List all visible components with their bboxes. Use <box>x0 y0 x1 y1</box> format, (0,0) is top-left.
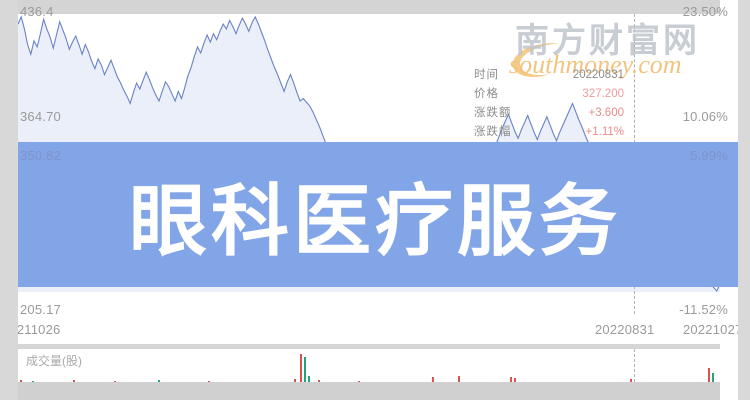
tooltip-value: +1.11% <box>586 123 624 142</box>
volume-bar <box>708 368 710 382</box>
tooltip-key: 涨跌幅 <box>474 123 512 142</box>
price-axis-label-band: 350.82 <box>20 148 61 163</box>
date-axis-label: 20221027 <box>683 322 742 337</box>
panel-bottom-divider <box>18 382 720 400</box>
tooltip-key: 价格 <box>474 85 499 104</box>
tooltip-value: 20220831 <box>573 66 624 85</box>
stock-chart-screenshot: 成交量(股) 436.4364.70205.17 23.50%10.06%-11… <box>0 0 750 400</box>
overlay-title: 眼科医疗服务 <box>0 142 750 287</box>
frame-right-edge <box>738 0 750 400</box>
tooltip-key: 涨跌额 <box>474 104 512 123</box>
percent-axis-label: -11.52% <box>679 302 728 317</box>
panel-middle-divider <box>18 344 720 349</box>
title-overlay-band: 眼科医疗服务 <box>0 142 750 287</box>
tooltip-row: 涨跌幅+1.11% <box>474 123 624 142</box>
volume-bars <box>18 349 720 382</box>
volume-axis-caption: 成交量(股) <box>26 352 82 369</box>
panel-top-divider <box>18 0 720 14</box>
tooltip-row: 时间20220831 <box>474 66 624 85</box>
tooltip-key: 时间 <box>474 66 499 85</box>
volume-bar <box>300 354 302 382</box>
price-axis-label: 205.17 <box>20 302 61 317</box>
percent-axis-label: 23.50% <box>683 4 728 19</box>
volume-chart-panel[interactable] <box>18 349 720 382</box>
tooltip-value: +3.600 <box>589 104 625 123</box>
price-axis-label: 364.70 <box>20 109 61 124</box>
tooltip-row: 价格327.200 <box>474 85 624 104</box>
volume-bar <box>712 373 714 382</box>
percent-axis-label-band: 5.99% <box>690 148 728 163</box>
volume-bar <box>304 357 306 382</box>
crosshair-vertical-line-volume <box>634 349 635 382</box>
percent-axis-label: 10.06% <box>683 109 728 124</box>
date-axis-label: 20220831 <box>595 322 654 337</box>
tooltip-row: 涨跌额+3.600 <box>474 104 624 123</box>
tooltip-value: 327.200 <box>582 85 624 104</box>
frame-left-edge <box>0 0 18 400</box>
price-axis-label: 436.4 <box>20 4 54 19</box>
